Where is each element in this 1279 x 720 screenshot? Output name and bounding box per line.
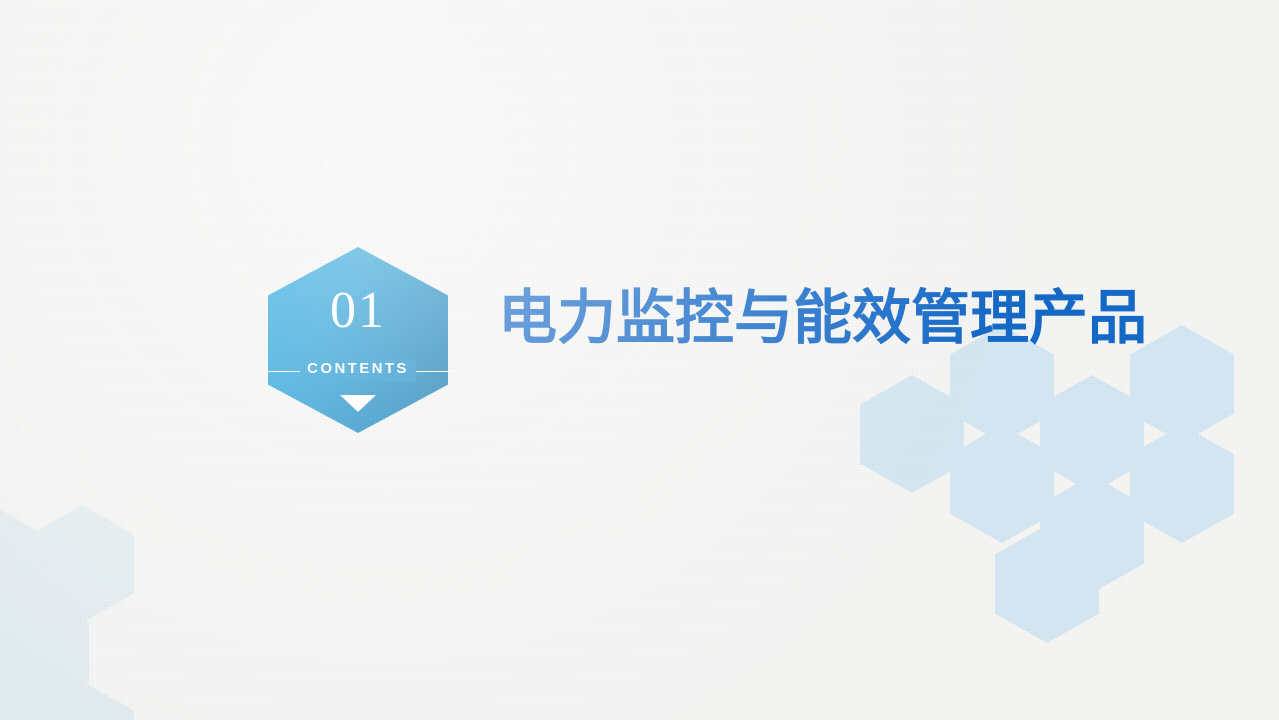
triangle-down-icon	[340, 395, 376, 412]
page-title: 电力监控与能效管理产品	[498, 288, 1147, 347]
section-number-badge: 01 CONTENTS	[268, 247, 448, 433]
hexagon-decoration	[1130, 425, 1234, 543]
honeycomb-cluster-left	[0, 505, 240, 720]
badge-caption-label: CONTENTS	[300, 360, 416, 377]
slide-canvas: 01 CONTENTS 电力监控与能效管理产品	[0, 0, 1279, 720]
hexagon-decoration	[950, 425, 1054, 543]
badge-caption: CONTENTS	[268, 360, 448, 378]
honeycomb-cluster-right	[860, 325, 1279, 720]
section-number: 01	[268, 285, 448, 337]
hexagon-decoration	[860, 375, 964, 493]
